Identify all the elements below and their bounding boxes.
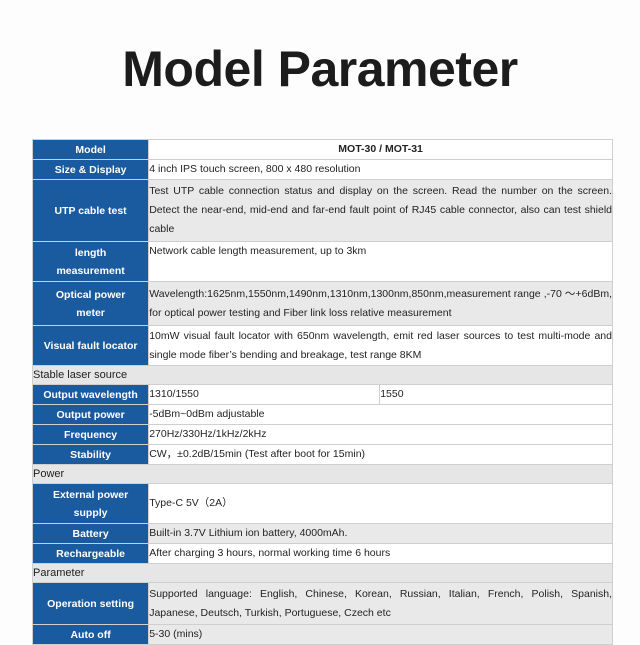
table-row-model: Model MOT-30 / MOT-31 bbox=[33, 140, 613, 160]
row-label-optical-power-meter-line1: Optical power bbox=[33, 286, 148, 304]
row-label-operation-setting: Operation setting bbox=[33, 583, 149, 625]
row-value-operation-setting: Supported language: English, Chinese, Ko… bbox=[149, 583, 613, 625]
section-header-parameter: Parameter bbox=[33, 564, 613, 583]
row-value-output-wavelength-a: 1310/1550 bbox=[149, 385, 380, 404]
section-header-power: Power bbox=[33, 465, 613, 484]
row-label-size-display: Size & Display bbox=[33, 160, 149, 180]
row-label-stability: Stability bbox=[33, 445, 149, 465]
row-value-external-power-supply: Type-C 5V（2A） bbox=[149, 484, 613, 524]
row-label-external-power-supply: External power supply bbox=[33, 484, 149, 524]
table-row-output-wavelength: Output wavelength 1310/1550 1550 bbox=[33, 385, 613, 405]
table-row-battery: Battery Built-in 3.7V Lithium ion batter… bbox=[33, 524, 613, 544]
table-row-optical-power-meter: Optical power meter Wavelength:1625nm,15… bbox=[33, 282, 613, 326]
table-row-external-power-supply: External power supply Type-C 5V（2A） bbox=[33, 484, 613, 524]
table-row-visual-fault-locator: Visual fault locator 10mW visual fault l… bbox=[33, 326, 613, 366]
row-value-battery: Built-in 3.7V Lithium ion battery, 4000m… bbox=[149, 524, 613, 544]
row-label-utp-cable-test: UTP cable test bbox=[33, 180, 149, 242]
row-label-frequency: Frequency bbox=[33, 425, 149, 445]
row-label-length-measurement-line2: measurement bbox=[33, 262, 148, 280]
section-title-stable-laser-source: Stable laser source bbox=[33, 366, 613, 385]
row-label-optical-power-meter: Optical power meter bbox=[33, 282, 149, 326]
row-label-model: Model bbox=[33, 140, 149, 160]
row-label-length-measurement: length measurement bbox=[33, 242, 149, 282]
row-value-stability: CW，±0.2dB/15min (Test after boot for 15m… bbox=[149, 445, 613, 465]
row-value-output-power: -5dBm~0dBm adjustable bbox=[149, 405, 613, 425]
row-label-output-wavelength: Output wavelength bbox=[33, 385, 149, 405]
table-row-rechargeable: Rechargeable After charging 3 hours, nor… bbox=[33, 544, 613, 564]
row-label-battery: Battery bbox=[33, 524, 149, 544]
row-value-visual-fault-locator: 10mW visual fault locator with 650nm wav… bbox=[149, 326, 613, 366]
section-header-stable-laser-source: Stable laser source bbox=[33, 366, 613, 385]
row-value-frequency: 270Hz/330Hz/1kHz/2kHz bbox=[149, 425, 613, 445]
section-title-power: Power bbox=[33, 465, 613, 484]
section-title-parameter: Parameter bbox=[33, 564, 613, 583]
table-row-frequency: Frequency 270Hz/330Hz/1kHz/2kHz bbox=[33, 425, 613, 445]
row-value-optical-power-meter: Wavelength:1625nm,1550nm,1490nm,1310nm,1… bbox=[149, 282, 613, 326]
row-label-visual-fault-locator: Visual fault locator bbox=[33, 326, 149, 366]
table-row-auto-off: Auto off 5-30 (mins) bbox=[33, 625, 613, 645]
table-row-output-power: Output power -5dBm~0dBm adjustable bbox=[33, 405, 613, 425]
table-row-utp-cable-test: UTP cable test Test UTP cable connection… bbox=[33, 180, 613, 242]
row-label-output-power: Output power bbox=[33, 405, 149, 425]
row-value-utp-cable-test: Test UTP cable connection status and dis… bbox=[149, 180, 613, 242]
row-value-output-wavelength-b: 1550 bbox=[380, 385, 612, 404]
row-value-rechargeable: After charging 3 hours, normal working t… bbox=[149, 544, 613, 564]
row-value-auto-off: 5-30 (mins) bbox=[149, 625, 613, 645]
row-label-auto-off: Auto off bbox=[33, 625, 149, 645]
row-label-length-measurement-line1: length bbox=[33, 244, 148, 262]
row-label-optical-power-meter-line2: meter bbox=[33, 304, 148, 322]
page-title: Model Parameter bbox=[0, 40, 640, 98]
spec-sheet-page: Model Parameter Model MOT-30 / MOT-31 Si… bbox=[0, 0, 640, 640]
model-parameter-table: Model MOT-30 / MOT-31 Size & Display 4 i… bbox=[32, 139, 613, 645]
row-label-external-power-supply-line2: supply bbox=[33, 504, 148, 522]
row-value-model: MOT-30 / MOT-31 bbox=[149, 140, 613, 160]
table-row-stability: Stability CW，±0.2dB/15min (Test after bo… bbox=[33, 445, 613, 465]
row-label-rechargeable: Rechargeable bbox=[33, 544, 149, 564]
table-row-operation-setting: Operation setting Supported language: En… bbox=[33, 583, 613, 625]
row-value-length-measurement: Network cable length measurement, up to … bbox=[149, 242, 613, 282]
table-row-size-display: Size & Display 4 inch IPS touch screen, … bbox=[33, 160, 613, 180]
table-row-length-measurement: length measurement Network cable length … bbox=[33, 242, 613, 282]
row-value-size-display: 4 inch IPS touch screen, 800 x 480 resol… bbox=[149, 160, 613, 180]
row-value-output-wavelength: 1310/1550 1550 bbox=[149, 385, 613, 405]
row-label-external-power-supply-line1: External power bbox=[33, 486, 148, 504]
